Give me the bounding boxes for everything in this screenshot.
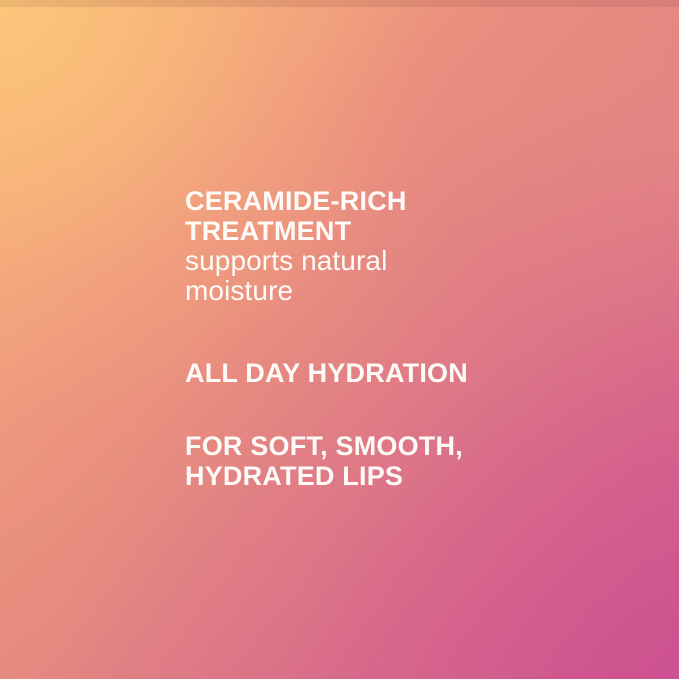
benefit-line: FOR SOFT, SMOOTH, [185,431,605,461]
benefit-line: CERAMIDE-RICH [185,186,605,216]
benefit-all-day-hydration: ALL DAY HYDRATION [185,358,605,388]
benefit-line: TREATMENT [185,216,605,246]
benefit-spacer [185,306,605,358]
benefit-soft-smooth-hydrated-lips: FOR SOFT, SMOOTH, HYDRATED LIPS [185,431,605,491]
product-benefit-panel: CERAMIDE-RICH TREATMENT supports natural… [0,0,679,679]
benefit-line: supports natural [185,246,605,276]
benefit-copy-block: CERAMIDE-RICH TREATMENT supports natural… [185,186,605,491]
benefit-line: ALL DAY HYDRATION [185,358,605,388]
benefit-spacer [185,388,605,431]
background-top-edge-band [0,0,679,7]
benefit-line: HYDRATED LIPS [185,461,605,491]
benefit-ceramide-rich-treatment: CERAMIDE-RICH TREATMENT supports natural… [185,186,605,306]
benefit-line: moisture [185,276,605,306]
